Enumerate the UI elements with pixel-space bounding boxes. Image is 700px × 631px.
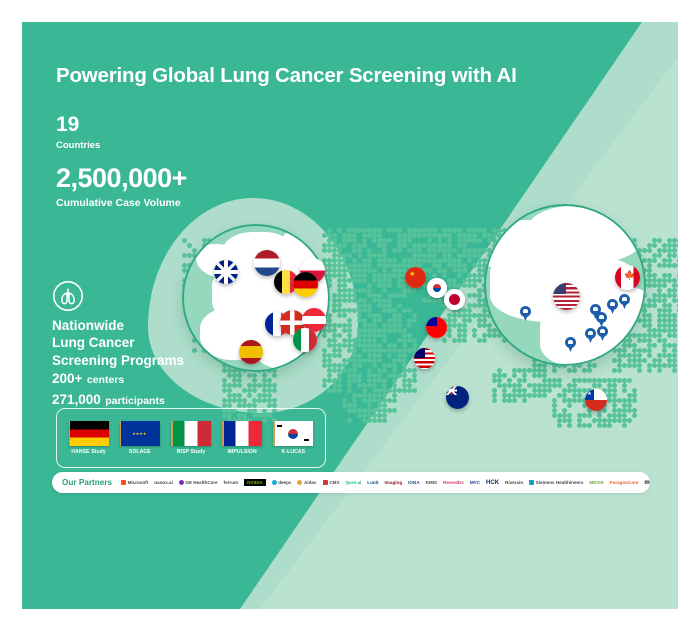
- map-pin-de[interactable]: [293, 272, 318, 297]
- flag-de-icon: [69, 421, 109, 446]
- centers-label: centers: [87, 374, 124, 386]
- location-marker[interactable]: [596, 312, 607, 327]
- program-flag-item[interactable]: K-LUCAS: [273, 421, 313, 455]
- partner-logo[interactable]: RevealDx: [443, 480, 464, 485]
- partner-logo[interactable]: HCK: [486, 480, 499, 486]
- location-marker[interactable]: [565, 337, 576, 352]
- program-flag-label: SOLACE: [129, 449, 151, 455]
- map-pin-it[interactable]: [293, 328, 317, 352]
- partner-logo[interactable]: MEVIS: [589, 480, 603, 485]
- flag-it-icon: [171, 421, 211, 446]
- partner-logo[interactable]: Siemens Healthineers: [529, 480, 583, 485]
- program-flag-item[interactable]: HANSE Study: [69, 421, 109, 455]
- stat-cases-label: Cumulative Case Volume: [56, 197, 181, 209]
- map-pin-cn[interactable]: ★: [405, 267, 426, 288]
- stat-countries-value: 19: [56, 114, 79, 135]
- partner-logo[interactable]: Microsoft: [121, 480, 148, 485]
- program-flag-label: HANSE Study: [71, 449, 106, 455]
- program-flag-item[interactable]: ★★★★ SOLACE: [120, 421, 160, 455]
- partner-logo[interactable]: MVC: [470, 480, 480, 485]
- partner-logo[interactable]: deepc: [272, 480, 292, 485]
- location-marker[interactable]: [607, 299, 618, 314]
- program-flag-label: K-LUCAS: [282, 449, 306, 455]
- partner-logo[interactable]: Riverain: [505, 480, 523, 485]
- infographic-poster: ★ ★: [22, 22, 678, 609]
- partner-logo[interactable]: ParagonCare: [610, 480, 639, 485]
- flag-fr-icon: [222, 421, 262, 446]
- program-flag-item[interactable]: IMPULSION: [222, 421, 262, 455]
- location-marker[interactable]: [520, 306, 531, 321]
- partner-logo[interactable]: IONA: [408, 480, 419, 485]
- partner-logo[interactable]: GE HealthCare: [179, 480, 218, 485]
- program-title-line1: Nationwide: [52, 317, 184, 334]
- location-marker[interactable]: [619, 294, 630, 309]
- partner-logo[interactable]: ferrum: [224, 480, 239, 485]
- stat-cases-value: 2,500,000+: [56, 165, 187, 192]
- partner-logo[interactable]: Qure.ai: [345, 480, 361, 485]
- partners-bar: Our Partners Microsoft nanox.ai GE Healt…: [52, 472, 650, 493]
- map-pin-gb[interactable]: [214, 260, 238, 284]
- centers-value: 200+: [52, 371, 82, 386]
- page-title: Powering Global Lung Cancer Screening wi…: [56, 64, 517, 88]
- map-pin-tw[interactable]: [426, 317, 447, 338]
- program-stats: 200+ centers 271,000 participants: [52, 369, 165, 411]
- program-title-line3: Screening Programs: [52, 352, 184, 369]
- partners-label: Our Partners: [62, 478, 112, 487]
- national-programs-card: HANSE Study ★★★★ SOLACE RISP Study IMPUL…: [56, 408, 326, 468]
- partner-logo[interactable]: CMS: [323, 480, 340, 485]
- participants-value: 271,000: [52, 392, 101, 407]
- partner-logo[interactable]: Aidoc: [297, 480, 316, 485]
- lungs-icon: [52, 280, 84, 312]
- location-marker[interactable]: [585, 328, 596, 343]
- flag-eu-icon: ★★★★: [120, 421, 160, 446]
- partner-logo[interactable]: NVIDIA: [244, 479, 266, 486]
- map-pin-au[interactable]: [446, 386, 469, 409]
- partner-logo[interactable]: KIMS: [426, 480, 437, 485]
- flag-kr-icon: [273, 421, 313, 446]
- map-pin-es[interactable]: [239, 340, 263, 364]
- map-pin-cl[interactable]: ★: [585, 389, 607, 411]
- map-pin-ca[interactable]: 🍁: [615, 265, 640, 290]
- partner-logo[interactable]: nanox.ai: [154, 480, 173, 485]
- map-pin-my[interactable]: [414, 348, 435, 369]
- program-title-line2: Lung Cancer: [52, 334, 184, 351]
- participants-label: participants: [105, 395, 165, 407]
- map-pin-jp[interactable]: [444, 289, 465, 310]
- program-flag-label: IMPULSION: [228, 449, 257, 455]
- partner-logo[interactable]: mintmedical: [644, 480, 650, 486]
- stat-countries-label: Countries: [56, 140, 100, 151]
- partner-logo[interactable]: Lunit: [367, 480, 378, 485]
- program-flag-item[interactable]: RISP Study: [171, 421, 211, 455]
- program-title: Nationwide Lung Cancer Screening Program…: [52, 317, 184, 369]
- program-flag-label: RISP Study: [177, 449, 205, 455]
- poster-canvas: ★ ★: [0, 0, 700, 631]
- map-pin-us[interactable]: [553, 283, 580, 310]
- partner-logo[interactable]: Imaging: [385, 480, 403, 485]
- location-marker[interactable]: [597, 326, 608, 341]
